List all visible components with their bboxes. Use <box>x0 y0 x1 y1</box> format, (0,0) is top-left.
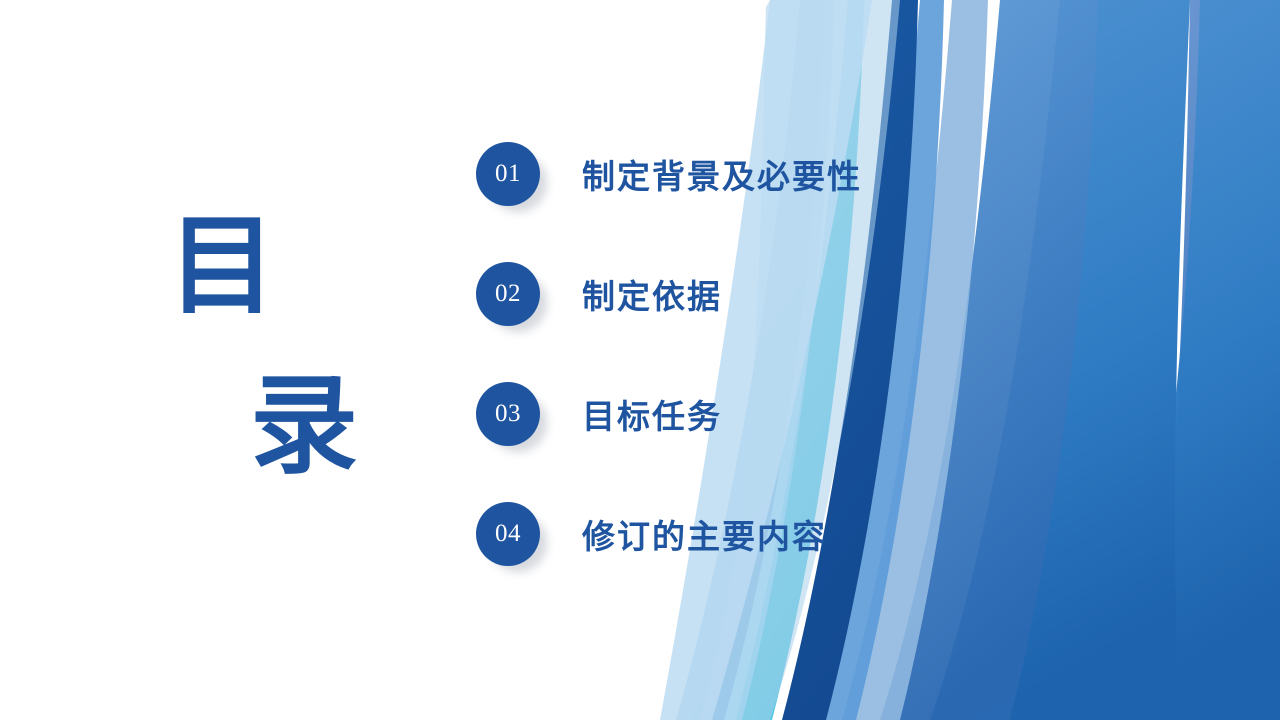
toc-label-01: 制定背景及必要性 <box>582 150 862 198</box>
toc-item-03[interactable]: 03 目标任务 <box>476 378 1236 450</box>
page-title: 目 录 <box>100 190 430 520</box>
toc-label-04: 修订的主要内容 <box>582 510 827 558</box>
toc-item-04[interactable]: 04 修订的主要内容 <box>476 498 1236 570</box>
toc-number-badge-04: 04 <box>476 502 540 566</box>
toc-number-badge-03: 03 <box>476 382 540 446</box>
toc-label-03: 目标任务 <box>582 390 722 438</box>
toc-number-badge-01: 01 <box>476 142 540 206</box>
toc-number-badge-02: 02 <box>476 262 540 326</box>
slide-canvas: 目 录 01 制定背景及必要性 02 制定依据 03 目标任务 04 <box>0 0 1280 720</box>
title-char-first: 目 <box>168 212 276 320</box>
toc-number-03: 03 <box>495 400 521 428</box>
toc-number-04: 04 <box>495 520 521 548</box>
title-char-second: 录 <box>250 372 358 480</box>
toc-label-02: 制定依据 <box>582 270 722 318</box>
toc-number-01: 01 <box>495 160 521 188</box>
toc-item-01[interactable]: 01 制定背景及必要性 <box>476 138 1236 210</box>
table-of-contents: 01 制定背景及必要性 02 制定依据 03 目标任务 04 修订的主要内容 <box>476 138 1236 570</box>
toc-item-02[interactable]: 02 制定依据 <box>476 258 1236 330</box>
toc-number-02: 02 <box>495 280 521 308</box>
